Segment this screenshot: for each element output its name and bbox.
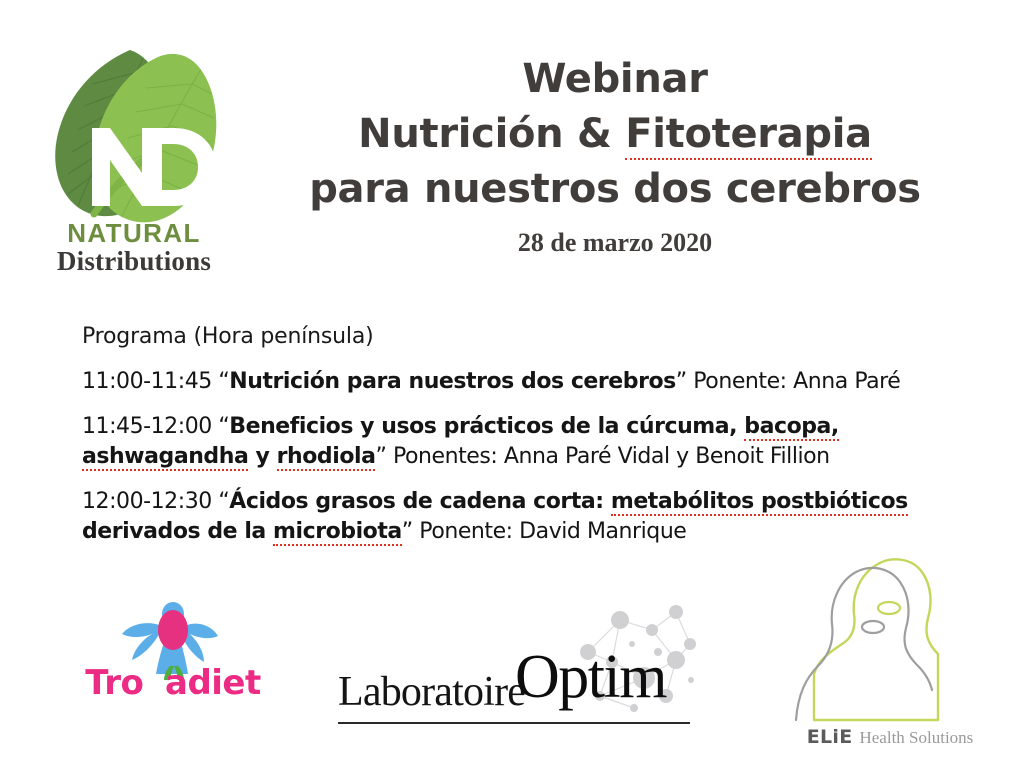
quote-close-1: ” xyxy=(676,369,687,394)
programme-section: Programa (Hora península) 11:00-11:45 “N… xyxy=(82,324,982,546)
quote-close-2: ” xyxy=(375,444,386,469)
trovadiet-logo: Trovadiet xyxy=(78,600,268,725)
elie-wordmark: ELiEHealth Solutions xyxy=(790,728,990,747)
optim-word-optim: Optim xyxy=(515,642,666,713)
programme-item-2-topic-mid: y xyxy=(248,444,276,469)
programme-heading: Programa (Hora península) xyxy=(82,324,982,349)
programme-item-2-misspell-bacopa: bacopa, xyxy=(744,414,839,441)
programme-item-3-topic-part2: derivados de la xyxy=(82,519,273,544)
bust-outline-icon xyxy=(790,548,990,728)
programme-item-3-speaker: Ponente: David Manrique xyxy=(413,519,687,544)
elie-health-solutions-logo: ELiEHealth Solutions xyxy=(790,548,990,763)
elie-tagline: Health Solutions xyxy=(859,728,973,747)
programme-item-3-topic-part1: Ácidos grasos de cadena corta: xyxy=(229,489,611,514)
programme-item-1-topic: Nutrición para nuestros dos cerebros xyxy=(229,369,675,394)
quote-open-3: “ xyxy=(218,489,229,514)
programme-item-2-time: 11:45-12:00 xyxy=(82,414,218,439)
programme-item-3-misspell-microbiota: microbiota xyxy=(273,519,402,546)
quote-open-2: “ xyxy=(218,414,229,439)
programme-item-1: 11:00-11:45 “Nutrición para nuestros dos… xyxy=(82,367,982,396)
quote-open-1: “ xyxy=(218,369,229,394)
programme-item-1-speaker: Ponente: Anna Paré xyxy=(687,369,901,394)
webinar-slide: NATURAL Distributions Webinar Nutrición … xyxy=(0,0,1024,773)
trovadiet-wordmark: Trovadiet xyxy=(78,666,268,700)
laboratoire-optim-logo: Laboratoire Optim xyxy=(330,598,710,728)
trovadiet-word-part2: adiet xyxy=(165,663,261,703)
programme-item-3-time: 12:00-12:30 xyxy=(82,489,218,514)
title-block: Webinar Nutrición & Fitoterapia para nue… xyxy=(215,52,1015,258)
optim-word-laboratoire: Laboratoire xyxy=(338,668,525,716)
programme-item-2-speaker: Ponentes: Anna Paré Vidal y Benoit Filli… xyxy=(386,444,829,469)
nd-leaf-logo-icon xyxy=(34,36,234,236)
title-subject-plain: Nutrición & xyxy=(358,111,625,157)
quote-close-3: ” xyxy=(402,519,413,544)
programme-item-2: 11:45-12:00 “Beneficios y usos prácticos… xyxy=(82,412,982,471)
optim-underline-rule xyxy=(338,722,690,724)
optim-wordmark: Laboratoire Optim xyxy=(330,650,710,720)
title-line-subject: Nutrición & Fitoterapia xyxy=(215,107,1015,162)
nd-wordmark-distributions: Distributions xyxy=(34,248,234,275)
programme-item-2-topic-part1: Beneficios y usos prácticos de la cúrcum… xyxy=(229,414,744,439)
nd-wordmark: NATURAL Distributions xyxy=(34,220,234,275)
trovadiet-word-part1: Tro xyxy=(85,663,143,703)
nd-wordmark-natural: NATURAL xyxy=(34,220,234,246)
programme-item-1-time: 11:00-11:45 xyxy=(82,369,218,394)
elie-brand-name: ELiE xyxy=(807,726,853,748)
programme-item-3-misspell-metabolitos: metabólitos postbióticos xyxy=(611,489,908,516)
title-line-webinar: Webinar xyxy=(215,52,1015,107)
title-subject-misspelled: Fitoterapia xyxy=(625,111,872,160)
programme-item-2-misspell-rhodiola: rhodiola xyxy=(277,444,376,471)
programme-item-3: 12:00-12:30 “Ácidos grasos de cadena cor… xyxy=(82,487,982,546)
programme-item-2-misspell-ashwagandha: ashwagandha xyxy=(82,444,248,471)
event-date: 28 de marzo 2020 xyxy=(215,228,1015,258)
nd-natural-distributions-logo: NATURAL Distributions xyxy=(34,36,234,276)
title-line-tagline: para nuestros dos cerebros xyxy=(215,162,1015,217)
